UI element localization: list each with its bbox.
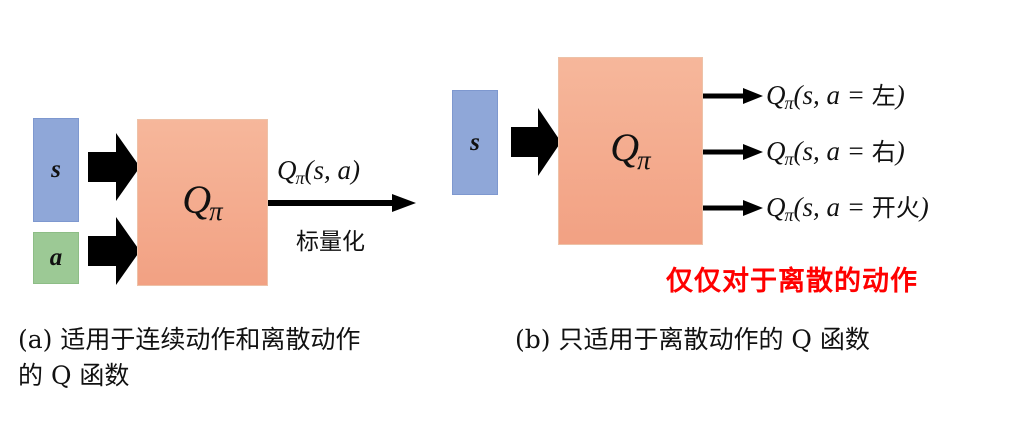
panel-a-output-arrow-icon — [268, 194, 416, 212]
panel-a-output-formula-main: Q — [277, 155, 297, 185]
panel-b-state-block: s — [452, 90, 498, 195]
panel-a-q-network-label: Qπ — [182, 180, 222, 226]
panel-b-output-2-action: 右 — [872, 138, 896, 166]
panel-a-action-label: a — [50, 244, 63, 272]
panel-a-output-formula-sub: π — [296, 168, 305, 188]
panel-a-state-label: s — [51, 156, 61, 184]
panel-b-output-2-args-pre: (s, a = — [794, 136, 872, 166]
panel-b-output-1-args-pre: (s, a = — [794, 80, 872, 110]
panel-b-q-network-label: Qπ — [610, 128, 650, 174]
panel-a-state-block: s — [33, 118, 79, 222]
panel-b-output-3-sub: π — [785, 205, 794, 225]
panel-a-caption: (a) 适用于连续动作和离散动作 的 Q 函数 — [18, 322, 488, 393]
panel-b-output-3-main: Q — [766, 192, 786, 222]
panel-a-scalarization-label: 标量化 — [296, 222, 365, 256]
panel-b-output-3-args-pre: (s, a = — [794, 192, 872, 222]
panel-a-q-network-box: Qπ — [137, 119, 268, 286]
figure-canvas: s a Qπ Qπ(s, a) 标量化 (a) 适用于连续动作和离散动作 的 Q… — [0, 0, 1010, 423]
panel-a-output-formula: Qπ(s, a) — [277, 157, 360, 187]
panel-b-output-1-main: Q — [766, 80, 786, 110]
panel-b-q-network-box: Qπ — [558, 57, 703, 245]
panel-b-output-2-main: Q — [766, 136, 786, 166]
panel-b-state-arrow-icon — [511, 108, 561, 176]
panel-a-action-block: a — [33, 232, 79, 284]
panel-b-output-arrow-icon-3 — [703, 200, 763, 216]
panel-b-output-3-action: 开火 — [872, 194, 920, 222]
panel-a-q-network-main: Q — [182, 177, 211, 222]
panel-b-output-formula-2: Qπ(s, a = 右) — [766, 138, 905, 168]
panel-b-output-3-args-post: ) — [920, 192, 929, 222]
panel-a-q-network-sub: π — [209, 196, 223, 226]
panel-b-output-1-action: 左 — [872, 82, 896, 110]
panel-b-state-label: s — [470, 129, 480, 157]
panel-b-discrete-only-note: 仅仅对于离散的动作 — [666, 259, 918, 298]
panel-b-output-formula-3: Qπ(s, a = 开火) — [766, 194, 929, 224]
panel-b-caption: (b) 只适用于离散动作的 Q 函数 — [515, 322, 985, 358]
panel-b-output-2-args-post: ) — [896, 136, 905, 166]
panel-a-output-formula-args: (s, a) — [305, 155, 361, 185]
panel-b-output-1-args-post: ) — [896, 80, 905, 110]
panel-b-output-arrow-icon-1 — [703, 88, 763, 104]
panel-b-output-2-sub: π — [785, 149, 794, 169]
panel-b-output-formula-1: Qπ(s, a = 左) — [766, 82, 905, 112]
panel-b-q-network-main: Q — [610, 125, 639, 170]
panel-a-action-arrow-icon — [88, 217, 140, 285]
panel-b-output-arrow-icon-2 — [703, 144, 763, 160]
panel-b-output-1-sub: π — [785, 93, 794, 113]
panel-b-q-network-sub: π — [637, 145, 651, 175]
panel-a-state-arrow-icon — [88, 133, 140, 201]
